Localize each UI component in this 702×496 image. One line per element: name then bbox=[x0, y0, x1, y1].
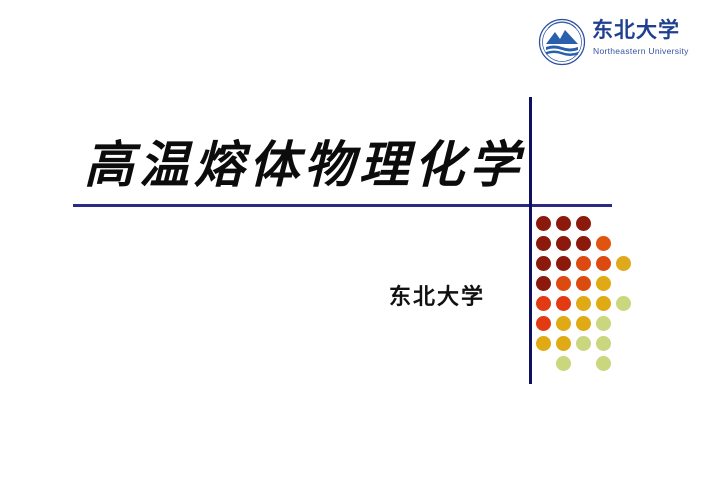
matrix-dot bbox=[576, 216, 591, 231]
matrix-dot bbox=[596, 256, 611, 271]
matrix-dot bbox=[596, 336, 611, 351]
northeastern-university-crest-icon bbox=[538, 18, 586, 66]
matrix-dot bbox=[596, 356, 611, 371]
matrix-dot bbox=[576, 316, 591, 331]
matrix-dot bbox=[536, 316, 551, 331]
vertical-rule bbox=[529, 97, 532, 384]
logo-name-en: Northeastern University bbox=[593, 47, 689, 56]
matrix-dot bbox=[576, 336, 591, 351]
slide-subtitle: 东北大学 bbox=[389, 284, 485, 310]
matrix-dot bbox=[556, 256, 571, 271]
matrix-dot bbox=[536, 236, 551, 251]
slide-title: 高温熔体物理化学 bbox=[84, 132, 524, 198]
matrix-dot bbox=[536, 276, 551, 291]
matrix-dot bbox=[576, 236, 591, 251]
matrix-dot bbox=[576, 276, 591, 291]
matrix-dot bbox=[536, 216, 551, 231]
presentation-slide: 东北大学 Northeastern University 高温熔体物理化学 东北… bbox=[0, 0, 702, 496]
matrix-dot bbox=[556, 236, 571, 251]
decorative-dot-matrix bbox=[536, 216, 644, 364]
matrix-dot bbox=[556, 316, 571, 331]
logo-name-cn: 东北大学 bbox=[592, 20, 680, 41]
matrix-dot bbox=[596, 316, 611, 331]
matrix-dot bbox=[576, 296, 591, 311]
matrix-dot bbox=[616, 296, 631, 311]
matrix-dot bbox=[536, 336, 551, 351]
matrix-dot bbox=[556, 336, 571, 351]
matrix-dot bbox=[616, 256, 631, 271]
matrix-dot bbox=[596, 236, 611, 251]
matrix-dot bbox=[596, 296, 611, 311]
matrix-dot bbox=[556, 276, 571, 291]
matrix-dot bbox=[536, 256, 551, 271]
matrix-dot bbox=[576, 256, 591, 271]
matrix-dot bbox=[556, 296, 571, 311]
matrix-dot bbox=[556, 216, 571, 231]
matrix-dot bbox=[596, 276, 611, 291]
university-logo: 东北大学 Northeastern University bbox=[520, 14, 680, 76]
matrix-dot bbox=[536, 296, 551, 311]
matrix-dot bbox=[556, 356, 571, 371]
